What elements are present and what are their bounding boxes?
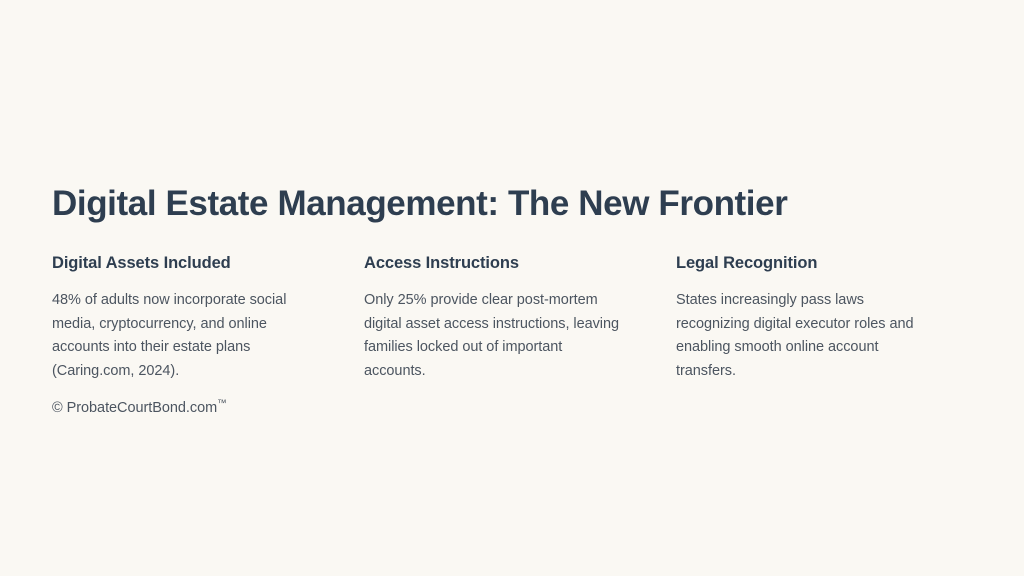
column-body-text: 48% of adults now incorporate social med… xyxy=(52,289,308,383)
column-heading: Digital Assets Included xyxy=(52,252,308,274)
trademark-icon: ™ xyxy=(217,398,226,409)
copyright-notice: © ProbateCourtBond.com™ xyxy=(52,397,227,421)
content-columns: Digital Assets Included 48% of adults no… xyxy=(52,252,972,383)
column-heading: Legal Recognition xyxy=(676,252,932,274)
column-body-text: Only 25% provide clear post-mortem digit… xyxy=(364,289,620,383)
slide-canvas: Digital Estate Management: The New Front… xyxy=(0,0,1024,576)
content-column-1: Digital Assets Included 48% of adults no… xyxy=(52,252,308,383)
column-body-text: States increasingly pass laws recognizin… xyxy=(676,289,932,383)
brand-name: ProbateCourtBond.com xyxy=(67,400,218,416)
content-column-2: Access Instructions Only 25% provide cle… xyxy=(364,252,620,383)
copyright-icon: © xyxy=(52,400,63,416)
content-column-3: Legal Recognition States increasingly pa… xyxy=(676,252,932,383)
page-title: Digital Estate Management: The New Front… xyxy=(52,181,787,227)
column-heading: Access Instructions xyxy=(364,252,620,274)
